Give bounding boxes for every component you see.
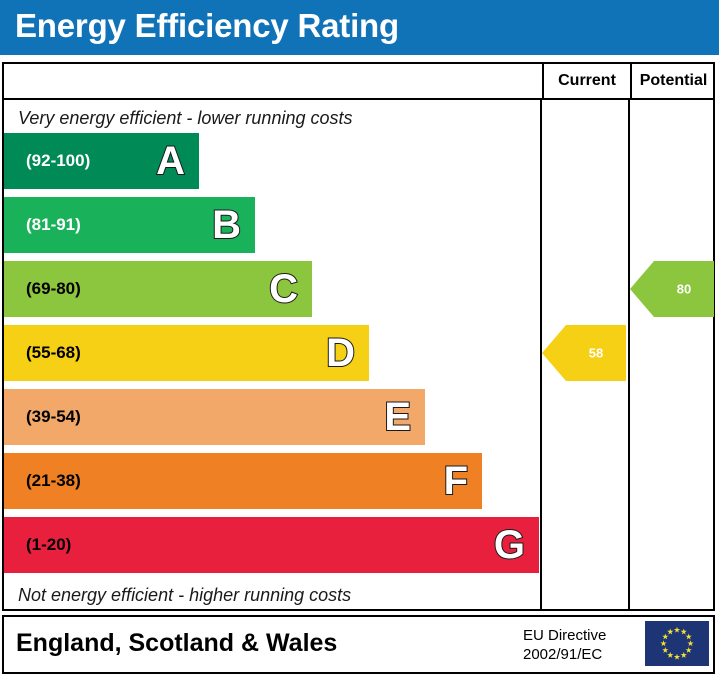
page-title: Energy Efficiency Rating: [15, 7, 399, 45]
band-range-f: (21-38): [26, 471, 81, 491]
band-bar-f: (21-38)F: [4, 453, 482, 509]
column-header-potential: Potential: [630, 64, 715, 98]
band-bar-c: (69-80)C: [4, 261, 312, 317]
caption-efficient: Very energy efficient - lower running co…: [18, 108, 353, 129]
column-divider-current: [540, 100, 542, 611]
column-header-current: Current: [542, 64, 630, 98]
band-range-e: (39-54): [26, 407, 81, 427]
caption-inefficient: Not energy efficient - higher running co…: [18, 585, 351, 606]
band-letter-f: F: [444, 461, 468, 501]
footer-directive: EU Directive 2002/91/EC: [523, 626, 633, 664]
column-divider-potential: [628, 100, 630, 611]
band-letter-c: C: [269, 269, 298, 309]
rating-value-current: 58: [566, 347, 626, 360]
energy-efficiency-rating-chart: Energy Efficiency Rating Current Potenti…: [0, 0, 719, 676]
footer-bar: England, Scotland & Wales EU Directive 2…: [2, 615, 715, 674]
band-letter-b: B: [212, 205, 241, 245]
band-letter-g: G: [494, 525, 525, 565]
band-letter-a: A: [156, 141, 185, 181]
footer-region-label: England, Scotland & Wales: [16, 629, 337, 658]
band-bar-b: (81-91)B: [4, 197, 255, 253]
rating-arrow-potential: 80: [630, 261, 714, 317]
band-range-a: (92-100): [26, 151, 90, 171]
band-range-c: (69-80): [26, 279, 81, 299]
title-bar: Energy Efficiency Rating: [0, 0, 719, 55]
rating-arrow-current: 58: [542, 325, 626, 381]
ratings-table: Current Potential Very energy efficient …: [2, 62, 715, 611]
footer-directive-line1: EU Directive: [523, 626, 633, 645]
band-letter-d: D: [326, 333, 355, 373]
footer-directive-line2: 2002/91/EC: [523, 645, 633, 664]
band-bar-g: (1-20)G: [4, 517, 539, 573]
band-bar-e: (39-54)E: [4, 389, 425, 445]
band-range-g: (1-20): [26, 535, 71, 555]
band-range-b: (81-91): [26, 215, 81, 235]
band-letter-e: E: [384, 397, 411, 437]
band-bar-d: (55-68)D: [4, 325, 369, 381]
table-header-row: Current Potential: [4, 64, 713, 100]
eu-flag-icon: [645, 621, 709, 666]
rating-value-potential: 80: [654, 283, 714, 296]
band-bar-a: (92-100)A: [4, 133, 199, 189]
band-range-d: (55-68): [26, 343, 81, 363]
